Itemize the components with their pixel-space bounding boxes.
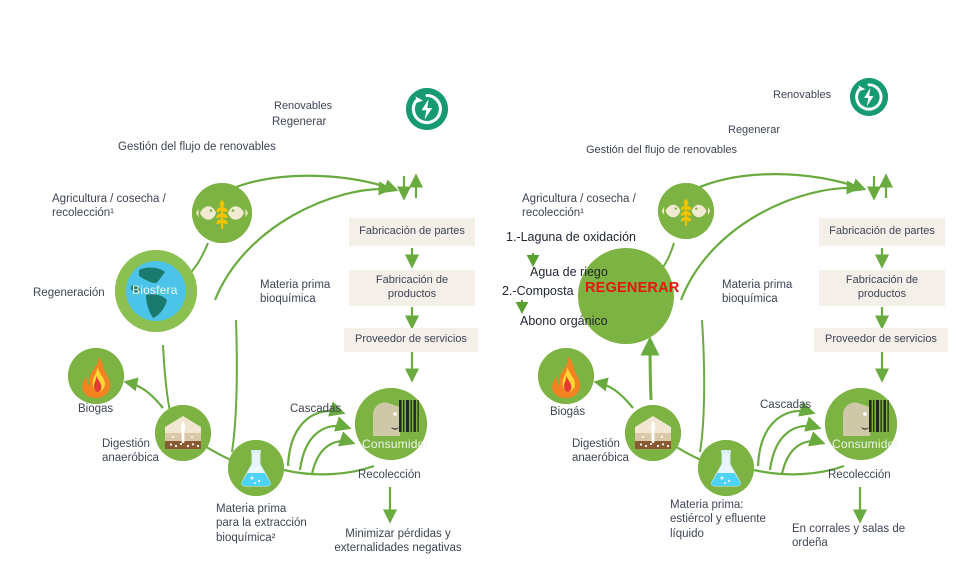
biosphere-label: Biosfera [132,283,178,297]
biogas-label: Biogás [550,405,585,419]
box-fabricacion-de-partes[interactable]: Fabricación de partes [819,218,945,246]
flask-icon [228,440,284,496]
agriculture-label: Agricultura / cosecha / recolección¹ [52,192,192,221]
box-label: Fabricación de partes [829,225,935,239]
regenerar-highlight-label: REGENERAR [585,280,679,296]
renewable-energy-icon [850,78,888,116]
agriculture-fish-wheat-icon [658,183,714,239]
box-label: Fabricación de productos [354,274,470,302]
flame-icon [68,348,124,404]
left-diagram-panel: Renovables Regenerar Gestión del flujo d… [0,0,478,581]
step-1: 1.-Laguna de oxidación [506,230,636,244]
renewables-label: Renovables [773,89,831,101]
biochemical-raw-material-label: Materia prima bioquímica [260,278,360,307]
step-1-text: Laguna de oxidación [521,230,636,244]
box-label: Fabricación de partes [359,225,465,239]
box-label: Proveedor de servicios [355,333,467,347]
cascades-label: Cascadas [760,398,811,412]
anaerobic-digestion-label: Digestión anaeróbica [572,437,642,466]
agriculture-label: Agricultura / cosecha / recolección¹ [522,192,662,221]
cascades-label: Cascadas [290,402,341,416]
box-label: Fabricación de productos [824,274,940,302]
manure-feedstock-label: Materia prima: estiércol y efluente líqu… [670,498,800,541]
corrales-label: En corrales y salas de ordeña [792,522,942,551]
regeneration-label: Regeneración [33,286,105,300]
box-proveedor-de-servicios[interactable]: Proveedor de servicios [814,328,948,352]
flame-icon [538,348,594,404]
right-diagram-panel: Renovables Regenerar Gestión del flujo d… [478,0,956,581]
consumer-label: Consumidor [832,437,899,451]
minimize-losses-label: Minimizar pérdidas y externalidades nega… [318,527,478,556]
regenerar-label: Regenerar [728,124,780,138]
regenerar-overlay-circle [578,248,674,344]
collection-label: Recolección [358,468,421,482]
box-proveedor-de-servicios[interactable]: Proveedor de servicios [344,328,478,352]
step-2-output-text: Abono orgánico [520,314,608,328]
box-label: Proveedor de servicios [825,333,937,347]
biochemical-raw-material-label: Materia prima bioquímica [722,278,822,307]
collection-label: Recolección [828,468,891,482]
anaerobic-digestion-label: Digestión anaeróbica [102,437,172,466]
box-fabricacion-de-productos[interactable]: Fabricación de productos [349,270,475,306]
flask-icon [698,440,754,496]
step-1-output-text: Agua de riego [530,265,608,279]
renewable-energy-icon [406,88,448,130]
step-2-text: Composta [517,284,574,298]
renewable-flow-label: Gestión del flujo de renovables [586,144,737,158]
consumer-label: Consumidor [362,437,429,451]
step-1-number: 1.- [506,230,521,244]
biogas-label: Biogas [78,402,113,416]
step-2: 2.-Composta [502,284,574,298]
renewables-label: Renovables [274,100,332,112]
renewable-flow-label: Gestión del flujo de renovables [118,140,276,154]
step-2-number: 2.- [502,284,517,298]
step-2-output: Abono orgánico [520,314,608,328]
regenerar-label: Regenerar [272,115,326,129]
box-fabricacion-de-productos[interactable]: Fabricación de productos [819,270,945,306]
step-1-output: Agua de riego [530,265,608,279]
agriculture-fish-wheat-icon [192,183,252,243]
box-fabricacion-de-partes[interactable]: Fabricación de partes [349,218,475,246]
